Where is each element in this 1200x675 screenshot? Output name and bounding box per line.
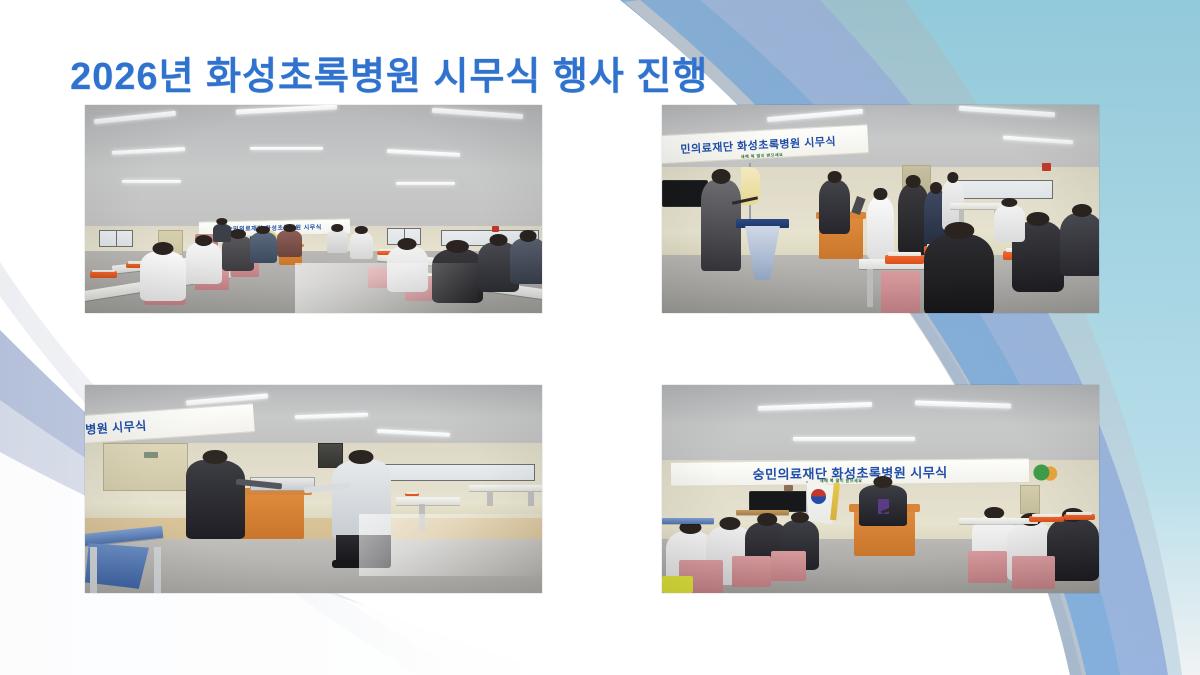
slide-title: 2026년 화성초록병원 시무식 행사 진행 [70, 45, 708, 100]
person-light-jacket [332, 460, 391, 539]
flag-taeguk [811, 489, 826, 504]
photo-director-address-at-podium: 숭민의료재단 화성초록병원 시무식 새해 복 많이 받으세요 [662, 385, 1099, 593]
person-dark-suit [186, 460, 245, 539]
banner-logo-icon [1029, 464, 1060, 481]
speaker-with-microphone [701, 180, 740, 272]
shoes-right [332, 560, 391, 568]
photo-award-handover: 초록병원 시무식 [85, 385, 542, 593]
photo-auditorium-seated-staff: 숭민의료재단 화성초록병원 시무식 [85, 105, 542, 313]
presentation-slide: 2026년 화성초록병원 시무식 행사 진행 [0, 0, 1200, 675]
photo-ceremony-speaker-with-microphone: 민의료재단 화성초록병원 시무식 새해 복 많이 받으세요 [662, 105, 1099, 313]
safety-vest [662, 576, 693, 593]
